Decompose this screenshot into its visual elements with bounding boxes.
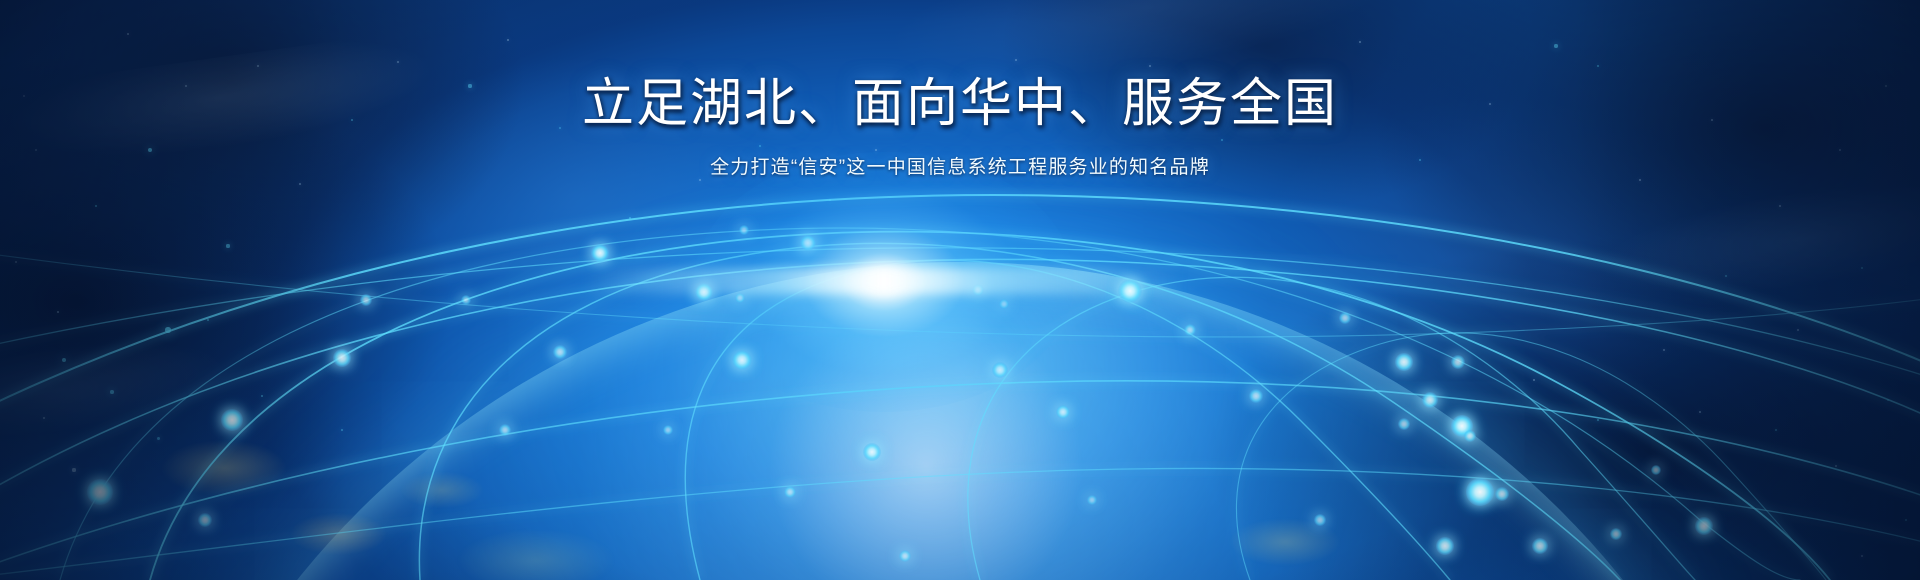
network-node <box>1249 389 1263 403</box>
network-node <box>1651 465 1661 475</box>
network-node <box>1395 353 1413 371</box>
network-node <box>1339 312 1351 324</box>
network-node <box>1464 430 1476 442</box>
network-node <box>1056 405 1070 419</box>
network-node <box>1087 495 1097 505</box>
network-node <box>1466 478 1494 506</box>
network-node <box>1495 487 1509 501</box>
network-node <box>1695 517 1713 535</box>
banner-copy: 立足湖北、面向华中、服务全国 全力打造“信安”这一中国信息系统工程服务业的知名品… <box>0 76 1920 179</box>
network-node <box>333 349 351 367</box>
network-node <box>663 425 673 435</box>
network-node <box>591 244 609 262</box>
network-node <box>499 424 511 436</box>
network-node <box>1398 418 1410 430</box>
banner-headline: 立足湖北、面向华中、服务全国 <box>0 76 1920 132</box>
network-node <box>1451 355 1465 369</box>
banner-subheadline: 全力打造“信安”这一中国信息系统工程服务业的知名品牌 <box>0 152 1920 179</box>
network-node <box>360 294 372 306</box>
network-node <box>899 550 911 562</box>
network-arc <box>1236 333 1826 580</box>
network-node <box>1184 324 1196 336</box>
network-node <box>461 295 471 305</box>
network-node <box>87 479 113 505</box>
network-arc <box>968 277 1695 580</box>
network-node <box>1532 538 1548 554</box>
network-node <box>1436 537 1454 555</box>
network-arc <box>0 468 1920 580</box>
network-arc <box>0 381 1920 580</box>
network-node <box>1314 514 1326 526</box>
network-node <box>784 486 796 498</box>
network-node <box>221 409 243 431</box>
network-node <box>198 513 212 527</box>
network-node <box>553 345 567 359</box>
network-node <box>1610 528 1622 540</box>
network-node <box>1422 392 1438 408</box>
network-node <box>863 443 881 461</box>
hero-banner: 立足湖北、面向华中、服务全国 全力打造“信安”这一中国信息系统工程服务业的知名品… <box>0 0 1920 580</box>
